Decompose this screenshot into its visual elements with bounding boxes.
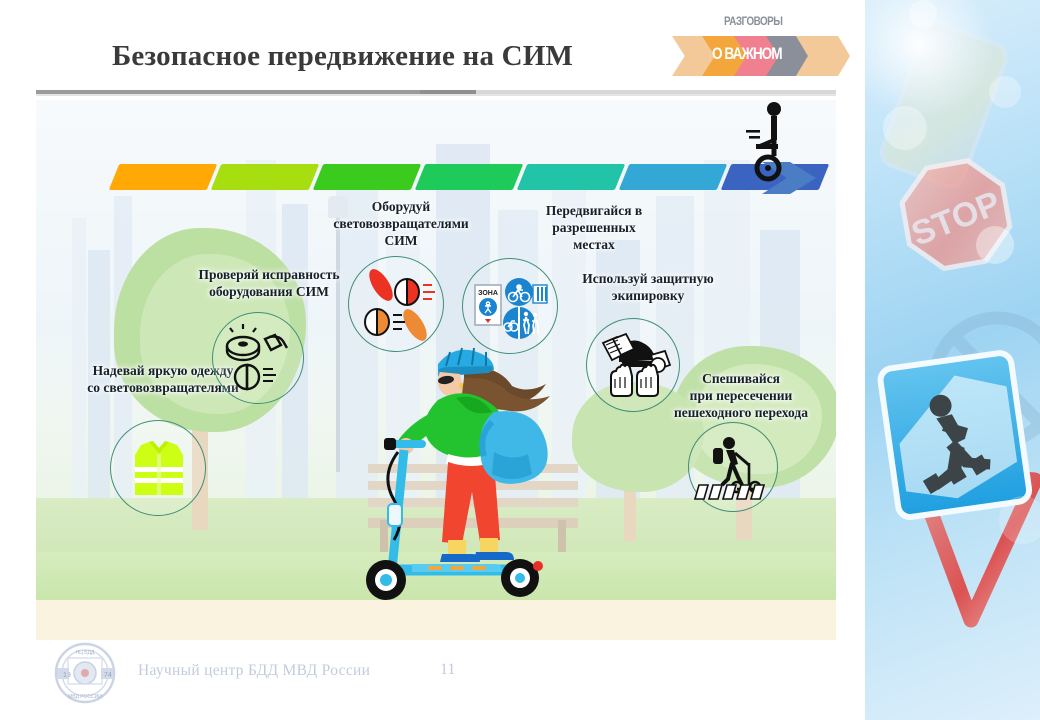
- brand-logo: РАЗГОВОРЫ О ВАЖНОМ: [672, 14, 850, 80]
- tip-icon-circle-bright-clothing: [110, 420, 206, 516]
- svg-text:МВД РОССИИ: МВД РОССИИ: [68, 694, 102, 700]
- arrow-segment: [517, 164, 626, 190]
- svg-text:ЗОНА: ЗОНА: [478, 290, 498, 297]
- page-title: Безопасное передвижение на СИМ: [112, 40, 672, 82]
- bell-brake-reflector-icon: [213, 313, 305, 405]
- arrow-segment: [109, 164, 218, 190]
- safety-vest-icon: [111, 421, 207, 517]
- svg-text:НЦ БДД: НЦ БДД: [76, 650, 95, 656]
- footer-organization: Научный центр БДД МВД России: [138, 662, 468, 684]
- arrow-segment: [415, 164, 524, 190]
- footer-page-number: 11: [440, 661, 480, 683]
- decorative-signs-panel: STOP: [865, 0, 1040, 720]
- pedestrian-crossing-sign-decor: [879, 352, 1031, 519]
- segway-rider-icon: [742, 100, 798, 182]
- tip-label-equip-reflectors: Оборудуй световозвращателями СИМ: [306, 198, 496, 249]
- tip-label-allowed-places: Передвигайся в разрешенных местах: [504, 202, 684, 253]
- title-divider-secondary: [36, 94, 836, 96]
- tip-icon-circle-check-equipment: [212, 312, 304, 404]
- scooter-rider-illustration: [352, 326, 582, 624]
- mvd-bdd-emblem: 19 74 НЦ БДД МВД РОССИИ: [54, 642, 116, 704]
- arrow-segment: [313, 164, 422, 190]
- arrow-segment: [211, 164, 320, 190]
- panel-gutter: [855, 0, 865, 720]
- tip-label-protective-gear: Используй защитную экипировку: [548, 270, 748, 304]
- infographic-image: Надевай яркую одежду со световозвращател…: [36, 100, 836, 640]
- tip-icon-circle-dismount-crosswalk: [688, 422, 778, 512]
- svg-text:74: 74: [104, 672, 112, 679]
- svg-text:19: 19: [63, 672, 71, 679]
- slide-canvas: Безопасное передвижение на СИМ РАЗГОВОРЫ…: [0, 0, 855, 720]
- progress-arrow-band: [110, 164, 810, 194]
- brand-main-label: О ВАЖНОМ: [712, 44, 816, 68]
- brand-top-label: РАЗГОВОРЫ: [724, 14, 822, 30]
- tip-label-dismount-crosswalk: Спешивайся при пересечении пешеходного п…: [646, 370, 836, 421]
- arrow-segment: [619, 164, 728, 190]
- tip-label-check-equipment: Проверяй исправность оборудования СИМ: [164, 266, 374, 300]
- walk-scooter-crosswalk-icon: [689, 423, 779, 513]
